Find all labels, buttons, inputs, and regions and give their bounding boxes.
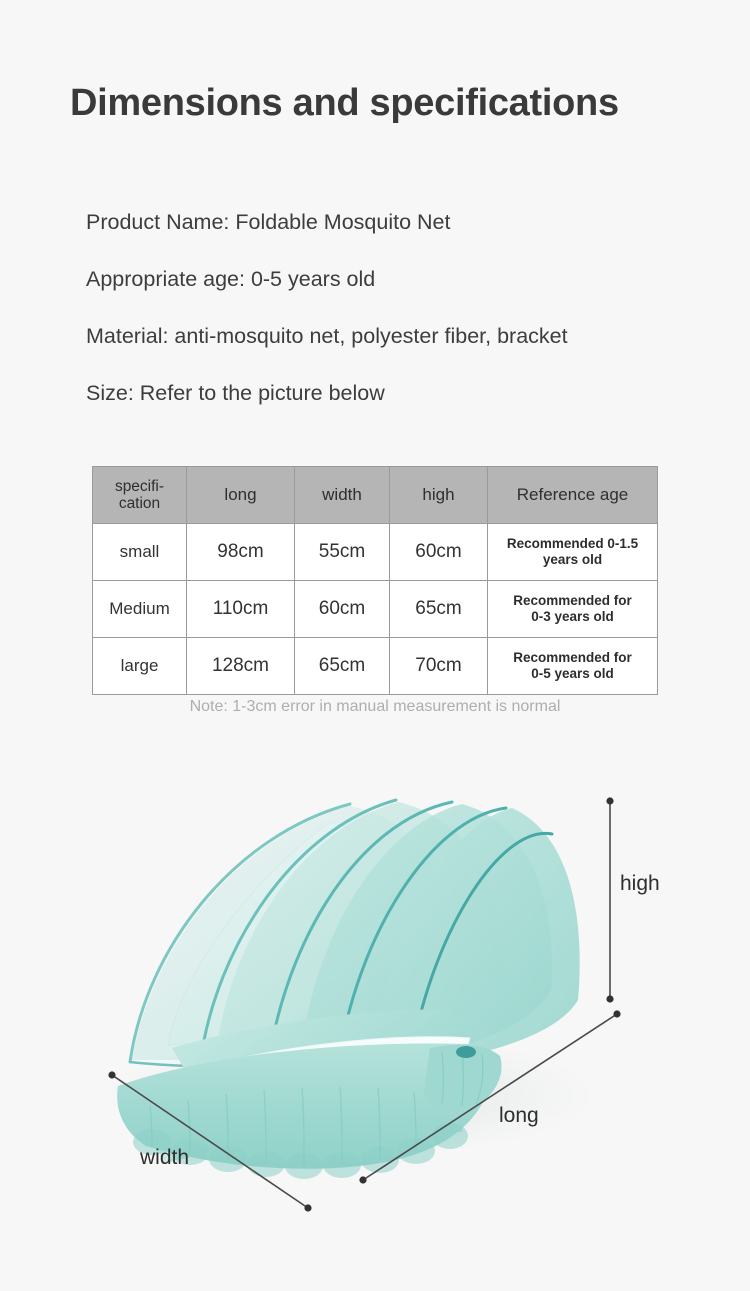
table-row: large 128cm 65cm 70cm Recommended for 0-… (93, 638, 658, 695)
cell-high-small: 60cm (390, 524, 488, 581)
page-title: Dimensions and specifications (70, 82, 619, 125)
product-spec-list: Product Name: Foldable Mosquito Net Appr… (86, 194, 686, 422)
table-header-row: specifi- cation long width high Referenc… (93, 467, 658, 524)
column-header-high: high (390, 467, 488, 524)
spec-line-product-name: Product Name: Foldable Mosquito Net (86, 194, 686, 251)
dimension-line-high (606, 797, 613, 1002)
table-row: Medium 110cm 60cm 65cm Recommended for 0… (93, 581, 658, 638)
cell-reference-age-medium-line1: Recommended for (513, 593, 632, 608)
cell-reference-age-small-line1: Recommended 0-1.5 (507, 536, 638, 551)
cell-width-medium: 60cm (295, 581, 390, 638)
cell-reference-age-small: Recommended 0-1.5 years old (488, 524, 658, 581)
column-header-specification-line1: specifi- (115, 478, 164, 495)
measurement-note: Note: 1-3cm error in manual measurement … (0, 698, 750, 716)
rib-hub (456, 1046, 476, 1058)
column-header-long: long (187, 467, 295, 524)
spec-line-material: Material: anti-mosquito net, polyester f… (86, 308, 686, 365)
cell-size-large: large (93, 638, 187, 695)
product-illustration (0, 760, 750, 1291)
column-header-specification: specifi- cation (93, 467, 187, 524)
cell-long-small: 98cm (187, 524, 295, 581)
cell-reference-age-large: Recommended for 0-5 years old (488, 638, 658, 695)
cell-high-large: 70cm (390, 638, 488, 695)
cell-width-small: 55cm (295, 524, 390, 581)
product-photo (0, 760, 750, 1291)
column-header-width: width (295, 467, 390, 524)
dimension-label-long: long (499, 1104, 539, 1128)
cell-width-large: 65cm (295, 638, 390, 695)
column-header-specification-line2: cation (119, 495, 160, 512)
dimension-label-high: high (620, 872, 660, 896)
cell-reference-age-medium-line2: 0-3 years old (531, 609, 614, 624)
cell-high-medium: 65cm (390, 581, 488, 638)
cell-reference-age-large-line2: 0-5 years old (531, 666, 614, 681)
spec-line-size: Size: Refer to the picture below (86, 365, 686, 422)
cell-reference-age-small-line2: years old (543, 552, 602, 567)
column-header-reference-age: Reference age (488, 467, 658, 524)
cell-reference-age-medium: Recommended for 0-3 years old (488, 581, 658, 638)
table-row: small 98cm 55cm 60cm Recommended 0-1.5 y… (93, 524, 658, 581)
spec-line-appropriate-age: Appropriate age: 0-5 years old (86, 251, 686, 308)
size-specification-table: specifi- cation long width high Referenc… (92, 466, 658, 695)
cell-reference-age-large-line1: Recommended for (513, 650, 632, 665)
cell-size-small: small (93, 524, 187, 581)
cell-size-medium: Medium (93, 581, 187, 638)
cell-long-large: 128cm (187, 638, 295, 695)
cell-long-medium: 110cm (187, 581, 295, 638)
dimension-label-width: width (140, 1146, 189, 1170)
